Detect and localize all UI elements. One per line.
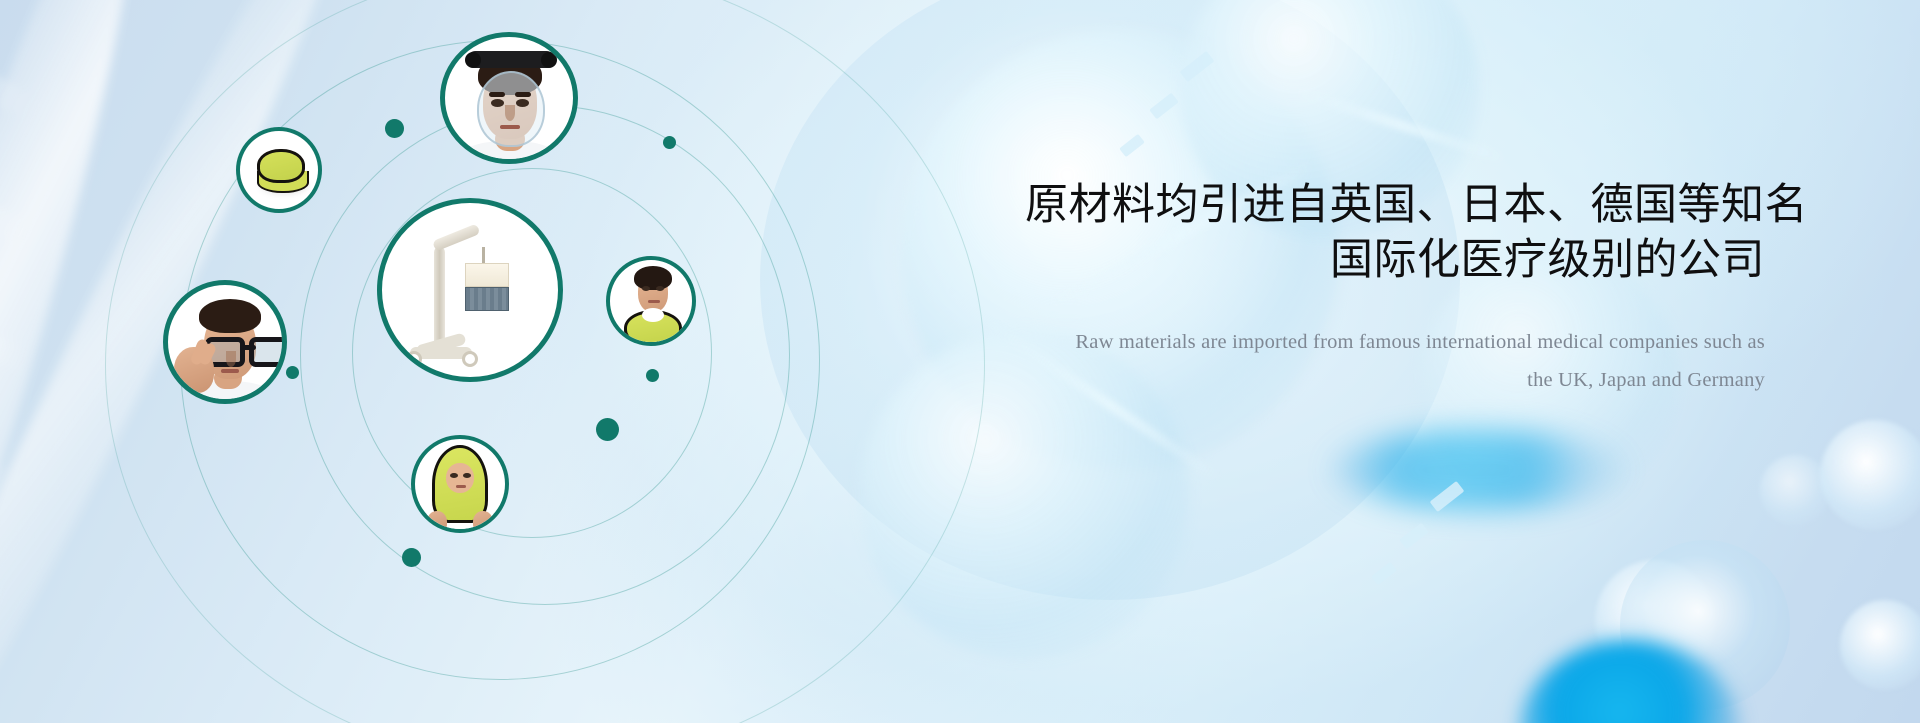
bubble-doctor-head-shield[interactable]: [440, 32, 578, 164]
molecule-bokeh-1: [1595, 560, 1715, 680]
dashed-accent-3: [1119, 134, 1145, 157]
lead-cap-icon: [240, 131, 318, 209]
headline-line-1: 原材料均引进自英国、日本、德国等知名: [1025, 180, 1808, 230]
lead-glasses-icon: [168, 285, 282, 399]
subcopy-line-2: the UK, Japan and Germany: [1025, 362, 1765, 400]
dashed-accent-4: [1430, 481, 1465, 512]
mobile-shield-icon: [382, 203, 558, 377]
dashed-accent-6: [1371, 562, 1397, 585]
subcopy-line-1: Raw materials are imported from famous i…: [1025, 324, 1765, 362]
dashed-accent-1: [1180, 51, 1215, 82]
face-shield-icon: [445, 37, 573, 159]
hero-banner: 原材料均引进自英国、日本、德国等知名 国际化医疗级别的公司 Raw materi…: [0, 0, 1920, 723]
headline: 原材料均引进自英国、日本、德国等知名 国际化医疗级别的公司: [1025, 178, 1765, 288]
bubble-thyroid-collar[interactable]: [606, 256, 696, 346]
bubble-mobile-lead-shield[interactable]: [377, 198, 563, 382]
orbit-dot-5: [596, 418, 619, 441]
bubble-doctor-lead-glasses[interactable]: [163, 280, 287, 404]
orbit-dot-6: [402, 548, 421, 567]
blue-accent-streak: [1330, 430, 1630, 510]
orbit-dot-1: [385, 119, 404, 138]
hero-copy-block: 原材料均引进自英国、日本、德国等知名 国际化医疗级别的公司 Raw materi…: [1025, 178, 1765, 400]
blue-accent-blob: [1520, 640, 1740, 723]
orbit-dot-4: [646, 369, 659, 382]
subcopy: Raw materials are imported from famous i…: [1025, 324, 1765, 400]
dashed-accent-2: [1149, 93, 1178, 120]
molecule-bokeh-2: [1820, 420, 1920, 530]
orbit-dot-3: [286, 366, 299, 379]
orbit-dot-2: [663, 136, 676, 149]
headline-line-2: 国际化医疗级别的公司: [1025, 233, 1765, 288]
protective-hood-icon: [415, 439, 505, 529]
molecule-bokeh-3: [1840, 600, 1920, 690]
molecule-sphere-right: [1620, 540, 1790, 710]
bubble-protective-hood[interactable]: [411, 435, 509, 533]
molecule-bokeh-4: [1760, 455, 1830, 525]
thyroid-collar-icon: [610, 260, 692, 342]
molecule-bond-3: [1294, 86, 1506, 163]
dashed-accent-5: [1399, 523, 1428, 550]
bubble-lead-cap[interactable]: [236, 127, 322, 213]
